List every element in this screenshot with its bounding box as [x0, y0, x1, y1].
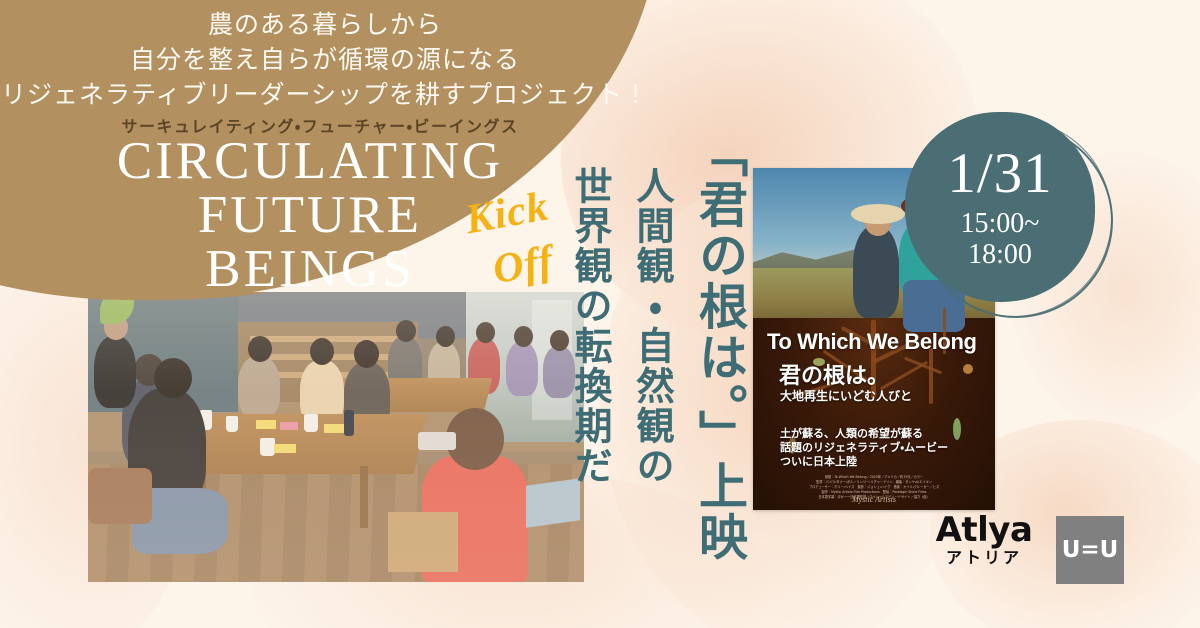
poster-straw-hat-icon: [851, 204, 905, 224]
header-lines: 農のある暮らしから 自分を整え自らが循環の源になる リジェネラティブリーダーシッ…: [0, 8, 650, 113]
poster-tagline-2: 話題のリジェネラティブ・ムービー: [780, 441, 948, 455]
atlya-logo: Atlya アトリア: [928, 512, 1040, 568]
header-line-2: 自分を整え自らが循環の源になる: [0, 43, 650, 78]
atlya-logo-jp: アトリア: [928, 548, 1040, 568]
event-time-start: 15:00~: [961, 208, 1040, 239]
poster-root: [929, 348, 933, 404]
ueu-logo-text: U=U: [1062, 537, 1119, 563]
photo-color-wash: [88, 292, 584, 582]
date-badge: 1/31 15:00~ 18:00: [905, 112, 1120, 327]
poster-signature: Mystic Artists: [753, 495, 995, 504]
header-line-1: 農のある暮らしから: [0, 8, 650, 43]
poster-title-jp: 君の根は。: [779, 358, 889, 390]
poster-tagline-1: 土が蘇る、人類の希望が蘇る: [780, 427, 948, 441]
event-time-end: 18:00: [961, 239, 1040, 270]
date-circle: 1/31 15:00~ 18:00: [905, 112, 1095, 302]
poster-tagline: 土が蘇る、人類の希望が蘇る 話題のリジェネラティブ・ムービー ついに日本上陸: [780, 427, 948, 469]
event-flyer: 農のある暮らしから 自分を整え自らが循環の源になる リジェネラティブリーダーシッ…: [0, 0, 1200, 628]
atlya-logo-en: Atlya: [928, 512, 1040, 548]
poster-title-en: To Which We Belong: [767, 329, 982, 355]
event-time: 15:00~ 18:00: [961, 208, 1040, 270]
workshop-photo: [88, 292, 584, 582]
poster-figure-left: [853, 226, 899, 318]
vertical-headline-col3: 世界観の転換期だ: [569, 166, 610, 486]
poster-worm-icon: [953, 418, 961, 440]
vertical-headline-col2: 人間観・自然観の: [631, 166, 672, 486]
vertical-headline-col1: 「君の根は。」上映: [692, 128, 745, 563]
poster-bug-icon: [963, 364, 973, 374]
poster-subtitle-jp: 大地再生にいどむ人びと: [780, 387, 912, 404]
poster-tagline-3: ついに日本上陸: [780, 455, 948, 469]
header-line-3: リジェネラティブリーダーシップを耕すプロジェクト！: [0, 78, 650, 113]
title-line-1: CIRCULATING: [0, 134, 620, 188]
ueu-logo: U=U: [1056, 516, 1124, 584]
event-date: 1/31: [947, 145, 1052, 203]
